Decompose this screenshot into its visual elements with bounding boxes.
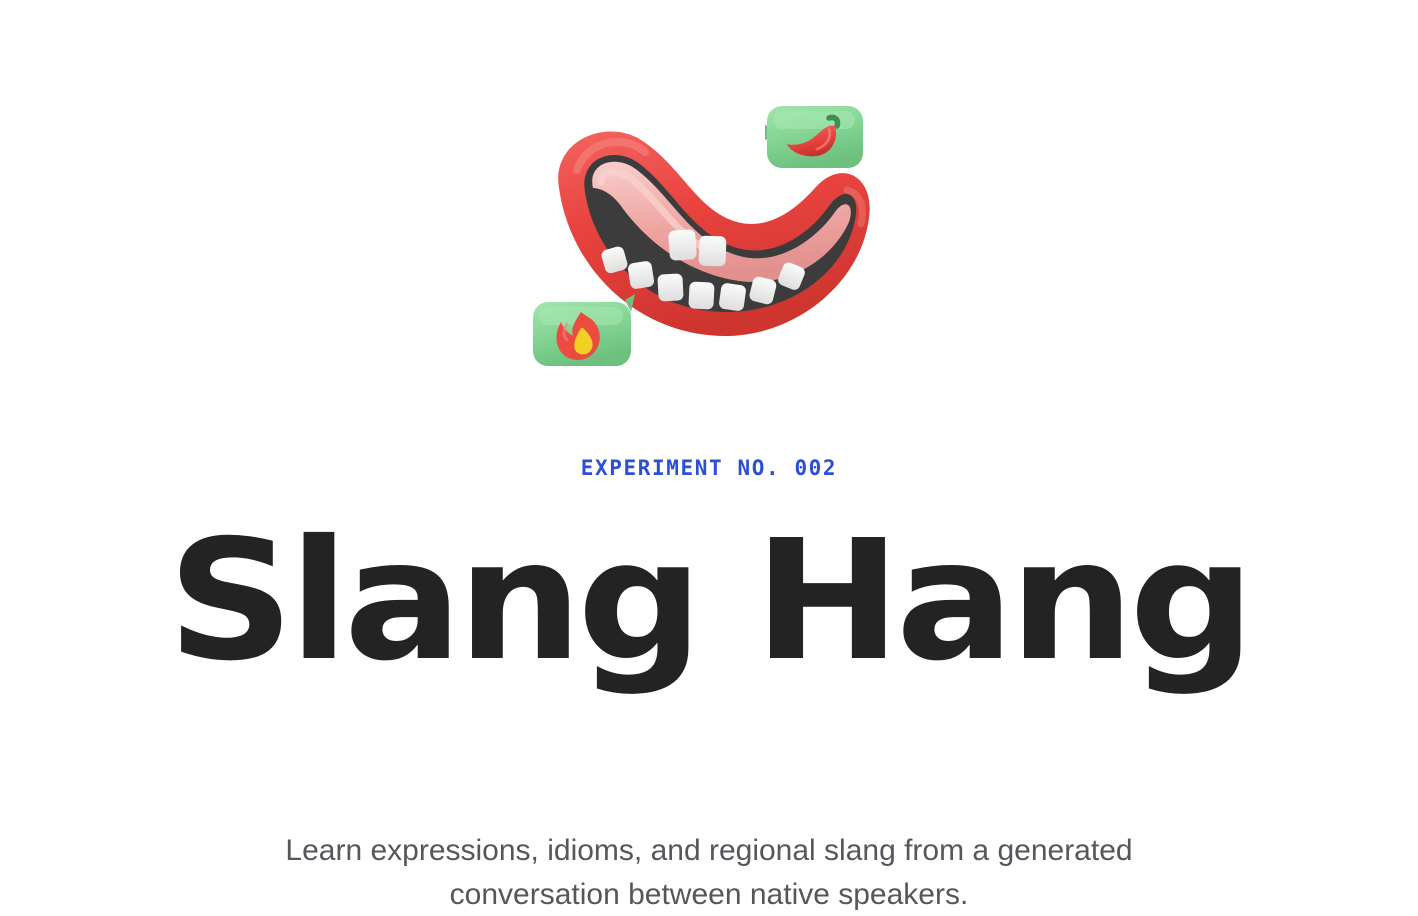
claymation-mouth-illustration [529,96,889,396]
experiment-label: EXPERIMENT NO. 002 [581,458,837,479]
hero-section: EXPERIMENT NO. 002 Slang Hang Learn expr… [0,0,1418,906]
page-title: Slang Hang [168,521,1250,684]
fire-speech-bubble [533,294,635,366]
page-subtitle: Learn expressions, idioms, and regional … [239,829,1179,916]
hero-illustration [529,96,889,396]
chili-speech-bubble [765,106,863,168]
